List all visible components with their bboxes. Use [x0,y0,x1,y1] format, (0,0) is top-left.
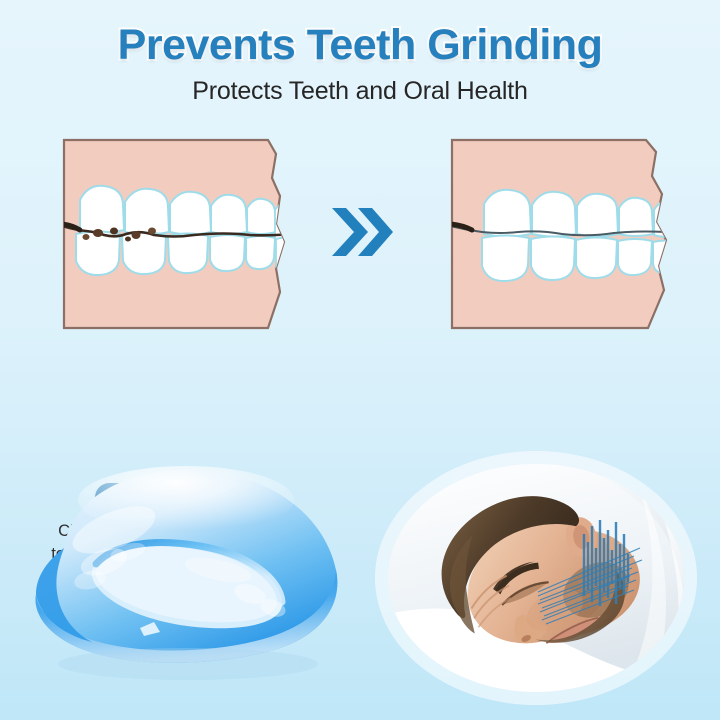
mouthguard-product-image [18,452,363,687]
header: Prevents Teeth Grinding Protects Teeth a… [0,0,720,106]
page-title: Prevents Teeth Grinding [0,0,720,68]
double-chevron-right-icon [330,206,394,258]
page-subtitle: Protects Teeth and Oral Health [0,68,720,106]
after-teeth-image [450,138,680,330]
before-teeth-image [62,138,292,330]
before-after-comparison: Before After Chronic teeth grinding lead… [0,138,720,438]
photo-clip [388,464,684,692]
sleeping-man-photo [376,452,696,704]
product-infographic-poster: Prevents Teeth Grinding Protects Teeth a… [0,0,720,720]
